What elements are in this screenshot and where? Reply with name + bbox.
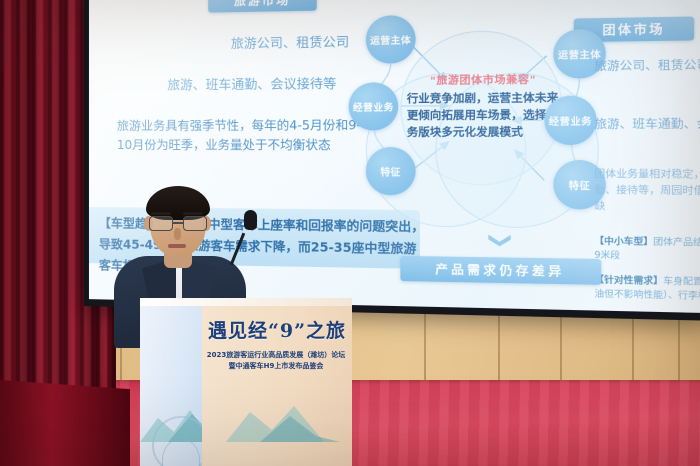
speaker-eyebrow-left (151, 212, 171, 215)
microphone-icon (244, 210, 257, 230)
podium: 遇见经“9”之旅 2023旅游客运行业高品质发展（潍坊）论坛 暨中通客车H9上市… (140, 298, 352, 466)
note-targeted-demand-label: 【针对性需求】 (594, 275, 663, 287)
glasses-lens-left (149, 216, 173, 231)
node-left-business: 经营业务 (349, 82, 399, 130)
note-targeted-demand: 【针对性需求】车身配置简约大方，关注经济（省油但不影响性能）、行李柜要求不高 (594, 274, 700, 307)
scene-stage: 旅游市场 团体市场 旅游公司、租赁公司 旅游、班车通勤、会议接待等 旅游业务具有… (0, 0, 700, 466)
center-callout-body: 行业竞争加剧，运营主体未来更倾向拓展用车场景，选择业务版块多元化发展模式 (407, 89, 563, 140)
speaker-eyebrow-right (183, 212, 203, 215)
note-small-vehicle-label: 【中小车型】 (594, 236, 653, 248)
slide-bottom-banner: 产品需求仍存差异 (400, 256, 601, 285)
center-callout-title: "旅游团体市场兼容" (411, 70, 555, 87)
right-line-2: 旅游、班车通勤、会议接待等 (594, 114, 700, 132)
podium-event-subtitle: 2023旅游客运行业高品质发展（潍坊）论坛 暨中通客车H9上市发布品鉴会 (200, 350, 352, 372)
podium-side-panel (140, 304, 202, 466)
podium-event-title: 遇见经“9”之旅 (204, 316, 350, 343)
right-line-1: 旅游公司、租赁公司 (594, 55, 700, 74)
glasses-lens-right (183, 216, 207, 231)
speaker-nose (174, 228, 181, 240)
podium-subtitle-line-1: 2023旅游客运行业高品质发展（潍坊）论坛 (200, 350, 352, 361)
podium-top-surface (140, 298, 352, 306)
podium-subtitle-line-2: 暨中通客车H9上市发布品鉴会 (200, 361, 352, 372)
glasses-bridge (173, 222, 183, 224)
speaker-mouth (168, 244, 186, 248)
podium-mountain-graphic-front (202, 396, 352, 442)
node-left-features: 特征 (366, 147, 416, 195)
right-paragraph: 团体业务量相对稳定，强度不大，工作日通勤、接待等，周园时借补贴营业务周期的空缺 (594, 166, 700, 216)
node-right-business: 经营业务 (544, 96, 596, 145)
curtain-hem (0, 380, 130, 466)
note-small-vehicle: 【中小车型】团体产品结构重点放在10-11米和8-9米段 (594, 235, 700, 267)
chevron-down-icon: ❯ (492, 222, 510, 258)
